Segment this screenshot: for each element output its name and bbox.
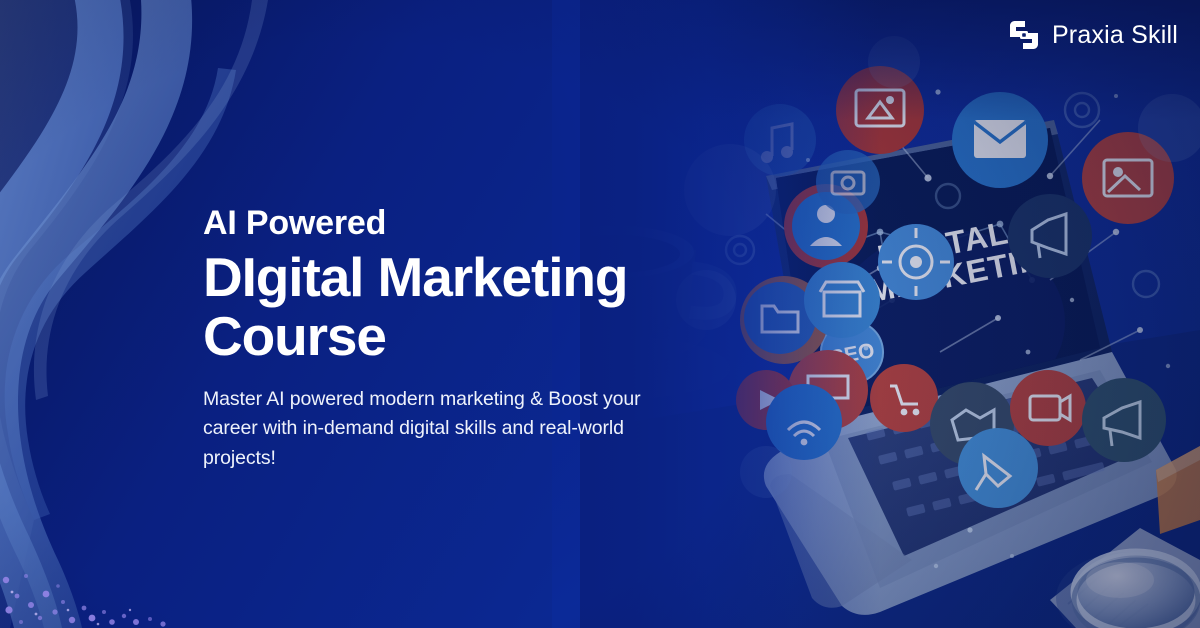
marketing-banner: DIGITAL MARKETING SEO [0,0,1200,628]
brand-name-skill: Skill [1131,21,1178,50]
brand-logo[interactable]: Praxia Skill [1007,18,1178,52]
brand-name-praxia: Praxia [1052,21,1131,49]
brand-name: Praxia Skill [1052,21,1178,50]
hero-eyebrow: AI Powered [203,204,703,242]
hero-subtitle: Master AI powered modern marketing & Boo… [203,385,658,474]
praxia-skill-logo-mark-icon [1007,18,1041,52]
hero-content: AI Powered DIgital Marketing Course Mast… [203,204,703,474]
hero-headline: DIgital Marketing Course [203,248,683,367]
